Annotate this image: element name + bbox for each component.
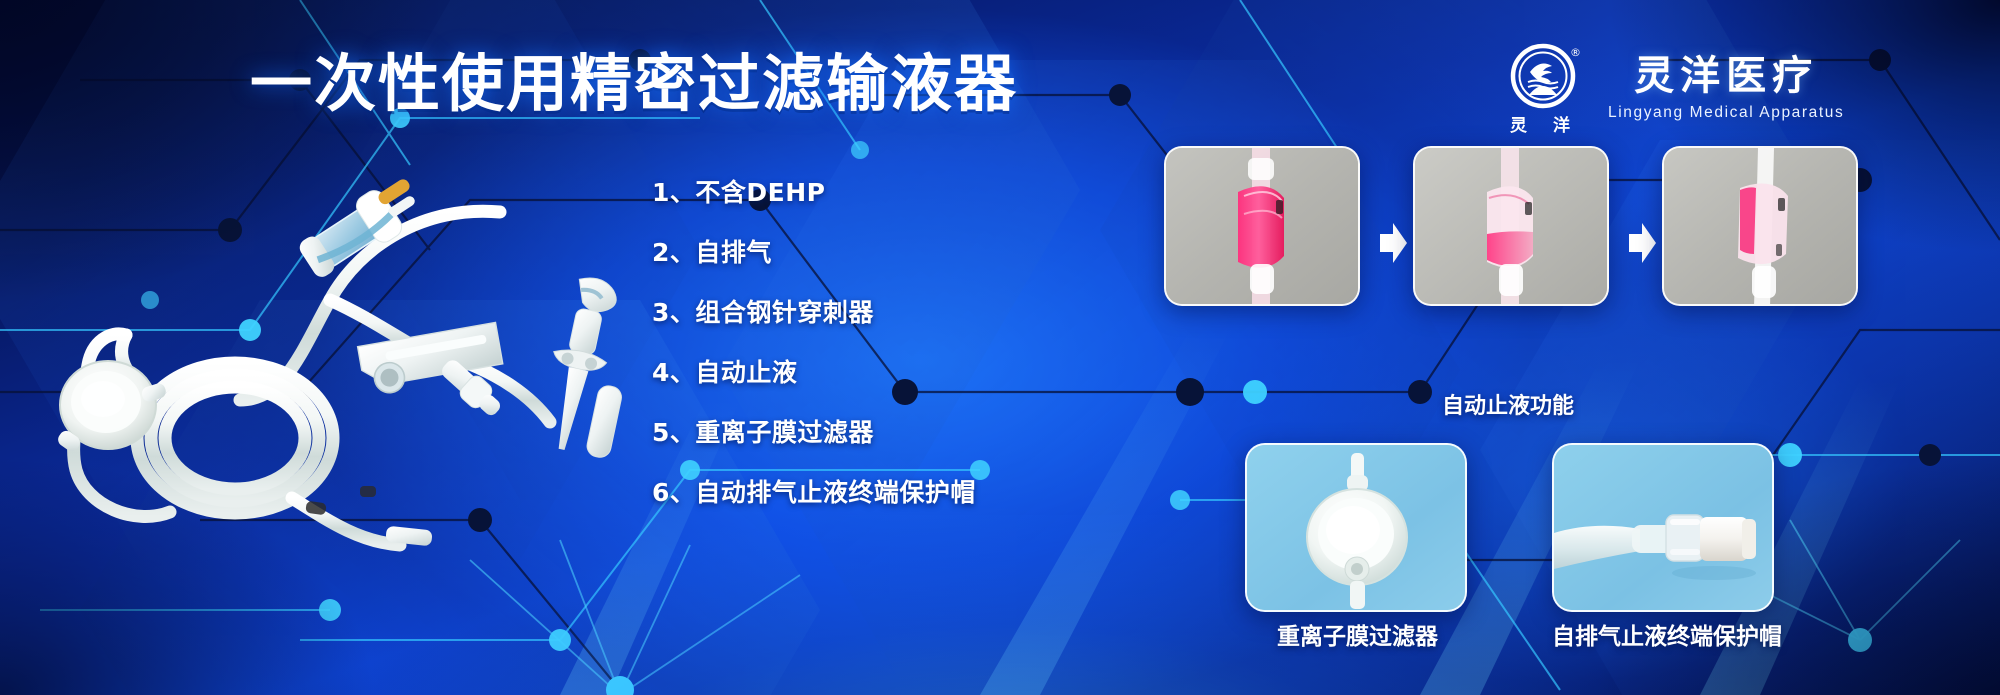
- feature-item-5: 5、重离子膜过滤器: [652, 418, 1012, 448]
- lingyang-logo-icon: ® 灵 洋: [1508, 42, 1586, 134]
- page-title: 一次性使用精密过滤输液器: [250, 49, 1030, 119]
- svg-text:灵: 灵: [1510, 116, 1528, 134]
- feature-list: 1、不含DEHP 2、自排气 3、组合钢针穿刺器 4、自动止液 5、重离子膜过滤…: [652, 178, 1012, 508]
- infusion-set-illustration: [30, 150, 650, 570]
- brand-name-en: Lingyang Medical Apparatus: [1608, 103, 1844, 123]
- sequence-arrow-2: [1627, 220, 1657, 266]
- sequence-frame-2: [1413, 146, 1609, 306]
- brand-lockup: ® 灵 洋 灵洋医疗 Lingyang Medical Apparatus: [1508, 42, 1844, 134]
- stop-liquid-photo-3: [1664, 148, 1858, 306]
- air-vent-protective-cap-photo: [1554, 445, 1774, 612]
- brand-text-block: 灵洋医疗 Lingyang Medical Apparatus: [1608, 53, 1844, 123]
- brand-name-cn: 灵洋医疗: [1634, 53, 1818, 99]
- svg-text:洋: 洋: [1553, 115, 1570, 134]
- detail-caption-filter: 重离子膜过滤器: [1277, 623, 1438, 651]
- sequence-frame-1: [1164, 146, 1360, 306]
- logo-seal-svg: ® 灵 洋: [1508, 42, 1586, 134]
- svg-text:®: ®: [1570, 46, 1581, 59]
- sequence-frame-3: [1662, 146, 1858, 306]
- detail-photo-cap: [1552, 443, 1774, 612]
- feature-item-1: 1、不含DEHP: [652, 178, 1012, 208]
- feature-item-3: 3、组合钢针穿刺器: [652, 298, 1012, 328]
- poster-canvas: 一次性使用精密过滤输液器 ® 灵 洋 灵洋医疗 Lingyang Medical…: [0, 0, 2000, 695]
- sequence-caption: 自动止液功能: [1442, 394, 1574, 420]
- detail-photo-filter: [1245, 443, 1467, 612]
- stop-liquid-photo-1: [1166, 148, 1360, 306]
- detail-caption-cap: 自排气止液终端保护帽: [1552, 623, 1782, 651]
- feature-item-6: 6、自动排气止液终端保护帽: [652, 478, 1012, 508]
- product-photo-infusion-set: [30, 150, 650, 570]
- feature-item-2: 2、自排气: [652, 238, 1012, 268]
- feature-item-4: 4、自动止液: [652, 358, 1012, 388]
- right-arrow-icon: [1627, 220, 1657, 266]
- right-arrow-icon: [1378, 220, 1408, 266]
- sequence-arrow-1: [1378, 220, 1408, 266]
- heavy-ion-filter-photo: [1247, 445, 1467, 612]
- stop-liquid-photo-2: [1415, 148, 1609, 306]
